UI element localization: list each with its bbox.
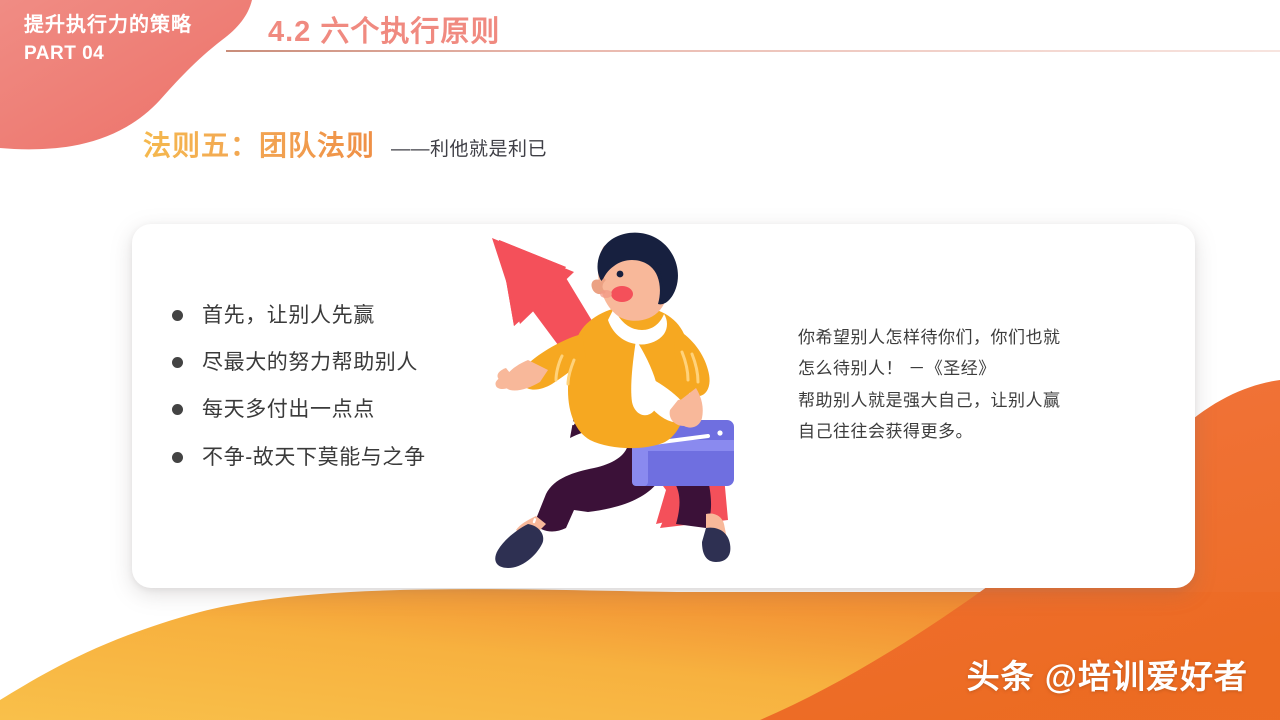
head [591, 233, 677, 321]
list-item-label: 尽最大的努力帮助别人 [202, 350, 418, 375]
header-part-label: PART 04 [24, 40, 274, 68]
bullet-list: 首先，让别人先赢 尽最大的努力帮助别人 每天多付出一点点 不争-故天下莫能与之争 [172, 303, 512, 470]
quote-block: 你希望别人怎样待你们，你们也就 怎么待别人！ －《圣经》 帮助别人就是强大自己，… [798, 322, 1158, 448]
quote-line: 你希望别人怎样待你们，你们也就 [798, 322, 1158, 353]
law-title: 法则五：团队法则 [143, 124, 375, 164]
running-businessman-illustration [470, 228, 800, 573]
watermark-text: 头条 @培训爱好者 [967, 650, 1248, 698]
bullet-dot-icon [172, 404, 183, 415]
header-title-group: 提升执行力的策略 PART 04 [24, 10, 274, 68]
slide: 提升执行力的策略 PART 04 4.2 六个执行原则 法则五：团队法则 ——利… [0, 0, 1280, 720]
list-item: 尽最大的努力帮助别人 [172, 350, 512, 375]
list-item-label: 每天多付出一点点 [202, 397, 375, 422]
bullet-dot-icon [172, 452, 183, 463]
header-kicker: 提升执行力的策略 [24, 10, 274, 40]
list-item-label: 不争-故天下莫能与之争 [202, 445, 426, 470]
list-item-label: 首先，让别人先赢 [202, 303, 375, 328]
section-title: 4.2 六个执行原则 [268, 8, 500, 50]
list-item: 首先，让别人先赢 [172, 303, 512, 328]
law-subtitle: ——利他就是利已 [391, 134, 547, 161]
list-item: 每天多付出一点点 [172, 397, 512, 422]
quote-line: 怎么待别人！ －《圣经》 [798, 353, 1158, 384]
law-heading: 法则五：团队法则 ——利他就是利已 [143, 124, 547, 164]
quote-line: 帮助别人就是强大自己，让别人赢 [798, 385, 1158, 416]
bullet-dot-icon [172, 310, 183, 321]
bullet-dot-icon [172, 357, 183, 368]
quote-line: 自己往往会获得更多。 [798, 416, 1158, 447]
list-item: 不争-故天下莫能与之争 [172, 445, 512, 470]
header-divider-rule [226, 50, 1280, 52]
